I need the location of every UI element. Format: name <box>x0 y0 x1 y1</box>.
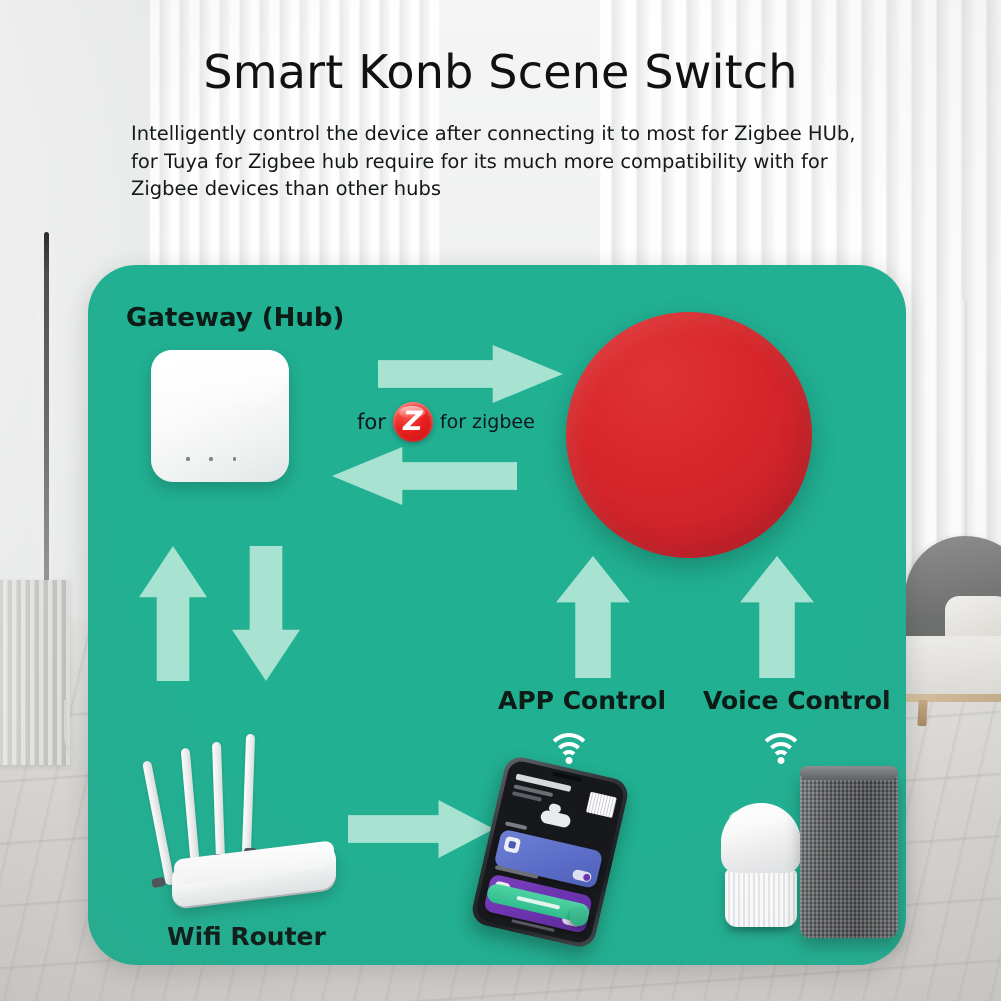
zigbee-prefix-text: for <box>357 410 386 434</box>
gateway-hub-led-indicators <box>186 456 236 462</box>
amazon-echo-speaker <box>800 770 898 938</box>
gateway-hub-highlight <box>151 350 289 408</box>
wifi-icon-app <box>546 731 592 765</box>
router-antenna <box>142 760 175 885</box>
sofa-leg <box>917 700 927 726</box>
wifi-icon-voice <box>758 731 804 765</box>
sofa-wood-rail <box>900 694 1001 702</box>
app-button-label-bar <box>516 896 560 910</box>
scene-toggle[interactable] <box>572 869 593 883</box>
label-app-control: APP Control <box>498 686 666 715</box>
label-wifi-router: Wifi Router <box>167 922 326 951</box>
led-dot <box>233 457 237 461</box>
label-gateway: Gateway (Hub) <box>126 303 344 333</box>
wifi-dot <box>566 757 573 764</box>
router-antenna <box>181 748 201 872</box>
infographic-canvas: Smart Konb Scene Switch Intelligently co… <box>0 0 1001 1001</box>
router-antenna <box>242 734 255 854</box>
zigbee-logo-icon: Z <box>393 402 433 442</box>
led-dot <box>209 457 213 461</box>
router-antenna-base <box>151 877 165 888</box>
smart-knob-device <box>566 312 812 558</box>
label-voice-control: Voice Control <box>703 686 891 715</box>
app-section-label <box>505 821 527 830</box>
page-subtitle: Intelligently control the device after c… <box>131 120 871 203</box>
sofa-seat <box>900 636 1001 702</box>
wifi-router-device <box>132 726 372 921</box>
zigbee-logo-letter: Z <box>403 408 423 435</box>
scene-icon <box>503 836 521 854</box>
floor-lamp <box>44 232 49 592</box>
echo-top-rim <box>800 766 898 780</box>
zigbee-badge: for Z for zigbee <box>357 404 535 440</box>
wifi-dot <box>778 757 785 764</box>
speaker-highlight <box>729 808 787 828</box>
qr-code-icon <box>586 792 617 819</box>
led-dot <box>186 457 190 461</box>
router-antenna <box>212 742 225 860</box>
radiator-fins <box>0 580 70 765</box>
google-home-speaker <box>721 803 801 931</box>
page-title: Smart Konb Scene Switch <box>0 48 1001 97</box>
app-badge <box>540 809 572 828</box>
headline-block: Smart Konb Scene Switch <box>0 48 1001 97</box>
zigbee-suffix-text: for zigbee <box>440 411 535 433</box>
speaker-fabric-base <box>725 869 797 927</box>
